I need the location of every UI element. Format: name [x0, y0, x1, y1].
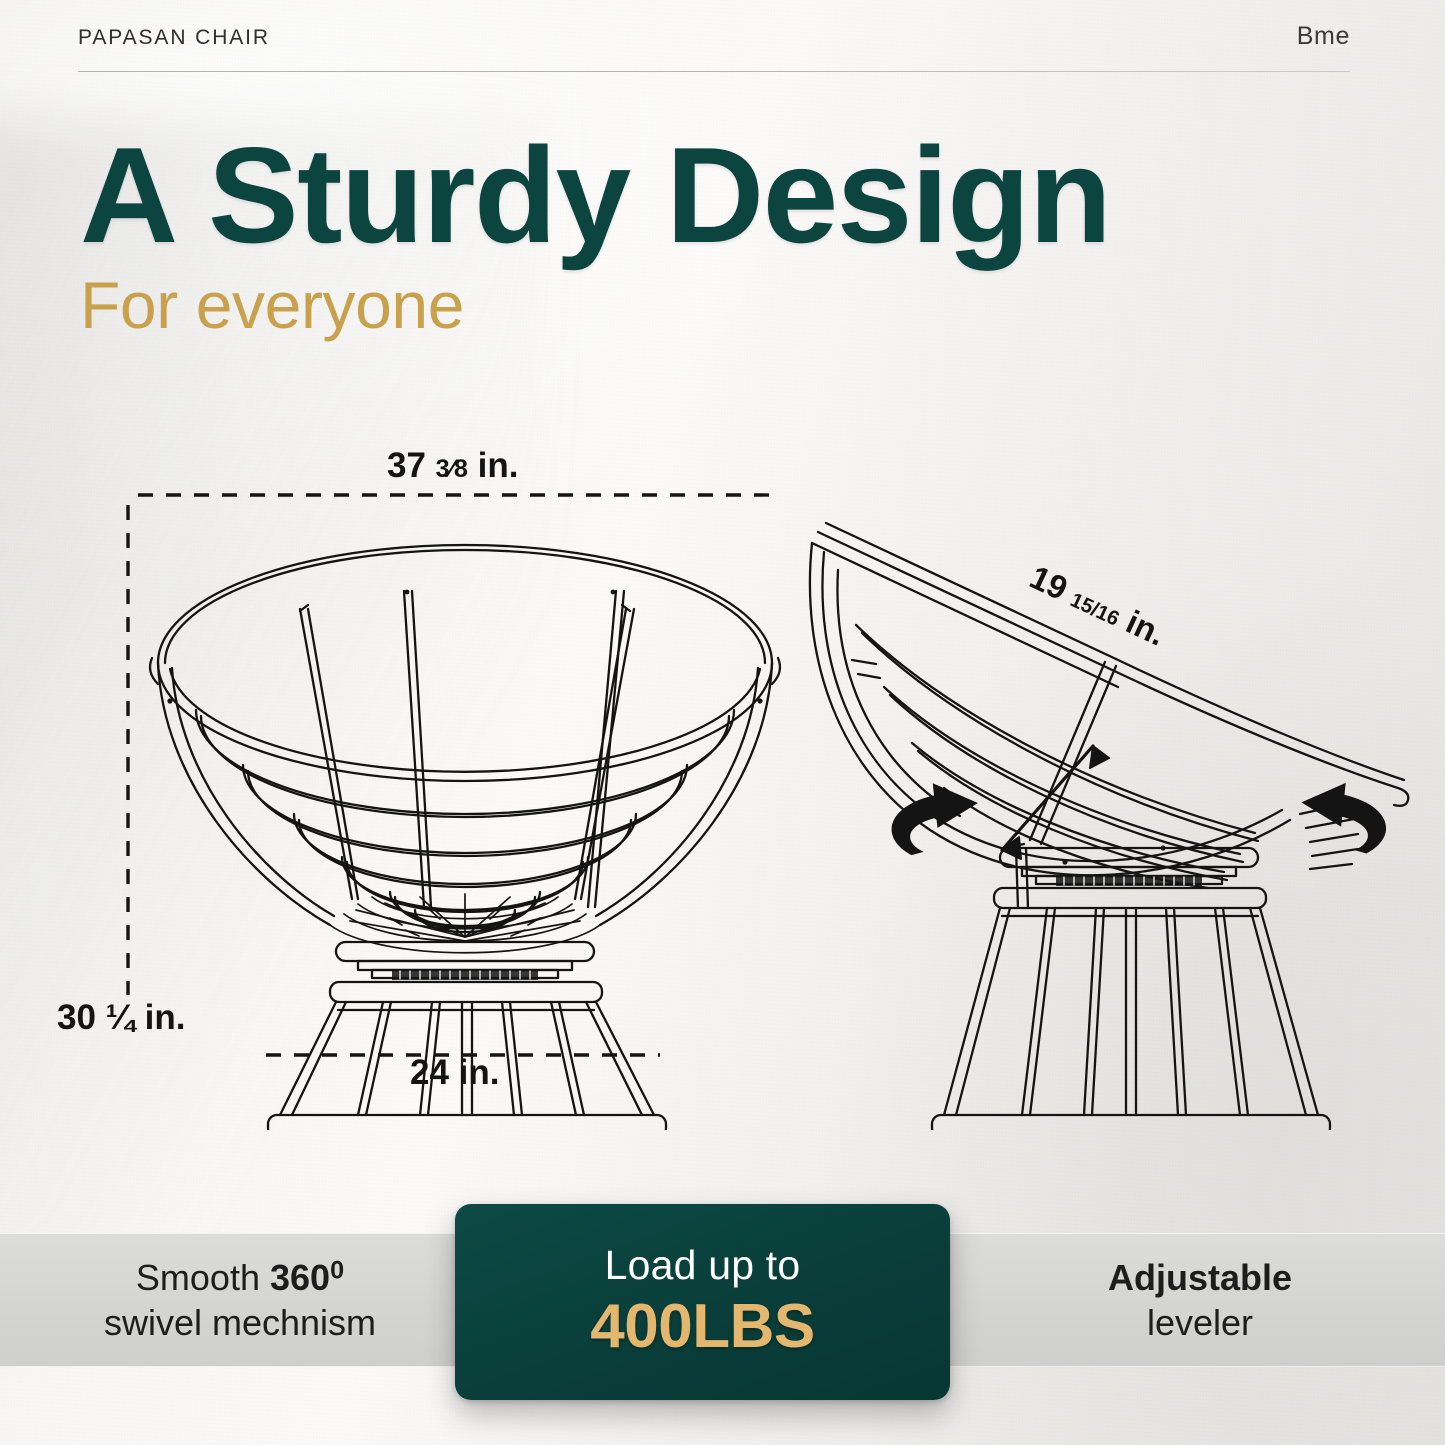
load-capacity-value: 400LBS	[590, 1291, 814, 1362]
base-bottom-rail	[268, 1115, 666, 1130]
page-title: A Sturdy Design	[80, 126, 1110, 265]
dimension-label-height: 30 ¼ in.	[57, 998, 185, 1038]
dimension-diagrams	[0, 410, 1445, 1130]
header: PAPASAN CHAIR Bme	[78, 22, 1350, 72]
dimension-label-width: 37 3⁄8 in.	[387, 446, 518, 486]
feature-leveler: Adjustable leveler	[1000, 1234, 1400, 1366]
feature-leveler-line2: leveler	[1147, 1300, 1253, 1345]
feature-swivel-line2: swivel mechnism	[104, 1300, 376, 1345]
header-divider	[78, 71, 1350, 72]
dimension-label-base-width: 24 in.	[410, 1053, 499, 1093]
double-headed-arrow-icon	[1002, 746, 1109, 859]
brand-logo: Bme	[1297, 22, 1350, 51]
header-row: PAPASAN CHAIR Bme	[78, 22, 1350, 51]
feature-swivel-line1: Smooth 3600	[136, 1255, 344, 1300]
rotate-arrow-right-icon	[1297, 779, 1391, 856]
infographic-page: PAPASAN CHAIR Bme A Sturdy Design For ev…	[0, 0, 1445, 1445]
base-top-rail	[330, 982, 602, 1002]
load-capacity-caption: Load up to	[605, 1242, 801, 1289]
swivel-top-plate	[336, 942, 594, 961]
load-capacity-card: Load up to 400LBS	[455, 1204, 950, 1400]
page-subtitle: For everyone	[80, 271, 1110, 340]
feature-leveler-line1: Adjustable	[1108, 1255, 1292, 1300]
headline-block: A Sturdy Design For everyone	[80, 126, 1110, 340]
feature-swivel: Smooth 3600 swivel mechnism	[40, 1234, 440, 1366]
product-kicker: PAPASAN CHAIR	[78, 26, 270, 50]
